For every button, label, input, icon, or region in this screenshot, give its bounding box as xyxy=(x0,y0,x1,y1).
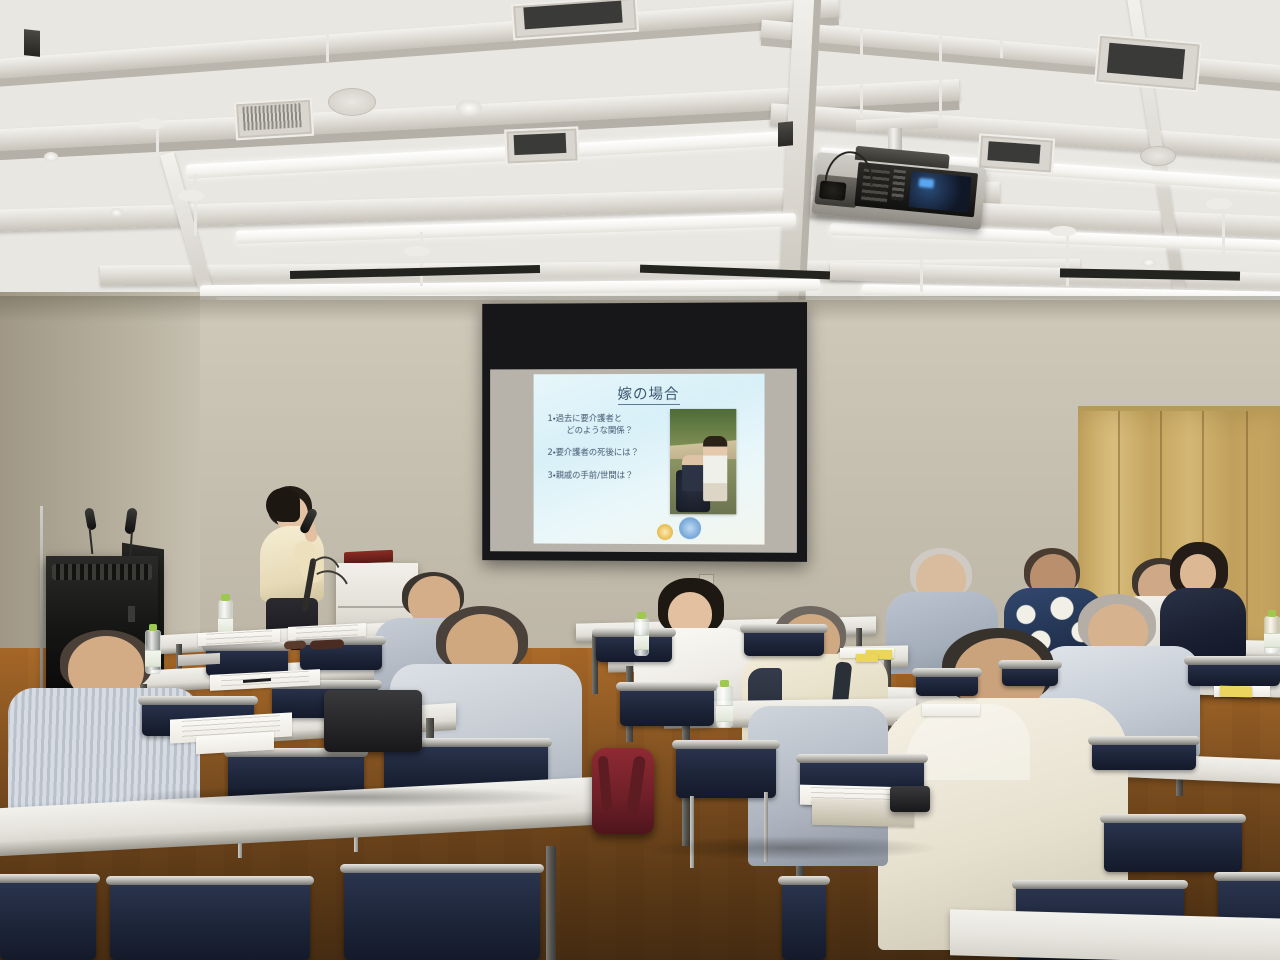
chair xyxy=(620,686,714,726)
slide-decor-dot-orange xyxy=(657,524,673,540)
chair xyxy=(916,672,978,696)
ceiling xyxy=(0,0,1280,316)
projector-indicator-light xyxy=(918,178,934,188)
head xyxy=(1180,554,1216,592)
table xyxy=(950,909,1280,960)
projection-screen: 嫁の場合 1・過去に要介護者と どのような関係？ 2・要介護者の死後には？ 3・… xyxy=(482,302,807,562)
wall-speaker xyxy=(24,29,40,57)
slide: 嫁の場合 1・過去に要介護者と どのような関係？ 2・要介護者の死後には？ 3・… xyxy=(534,374,765,545)
chair xyxy=(1002,664,1058,686)
chair xyxy=(1092,740,1196,770)
slide-photo xyxy=(670,409,736,514)
downlight xyxy=(110,208,123,217)
chair xyxy=(344,868,540,960)
water-bottle xyxy=(145,630,161,674)
wall-speaker xyxy=(778,121,793,147)
downlight xyxy=(44,152,58,162)
screen-surface: 嫁の場合 1・過去に要介護者と どのような関係？ 2・要介護者の死後には？ 3・… xyxy=(490,369,797,553)
projector-lens xyxy=(819,180,847,200)
water-bottle xyxy=(634,618,649,656)
slide-title: 嫁の場合 xyxy=(534,383,765,404)
chair xyxy=(0,878,96,960)
chair xyxy=(676,744,776,798)
slide-bullet-1: 1・過去に要介護者と どのような関係？ xyxy=(547,412,667,436)
chair xyxy=(1188,660,1280,686)
chair xyxy=(782,880,826,960)
eyeglass-case xyxy=(284,640,306,649)
slide-decor-dot-blue xyxy=(679,517,701,539)
chair xyxy=(110,880,310,960)
projector-mount-bracket xyxy=(860,22,942,118)
handout xyxy=(922,704,980,716)
downlight xyxy=(1142,258,1156,267)
downlight xyxy=(456,100,482,116)
eyeglass-case xyxy=(310,639,344,650)
seminar-room-photo: 嫁の場合 1・過去に要介護者と どのような関係？ 2・要介護者の死後には？ 3・… xyxy=(0,0,1280,960)
slide-bullet-2: 2・要介護者の死後には？ xyxy=(547,446,667,458)
water-bottle xyxy=(716,686,733,728)
yellow-handout xyxy=(856,654,878,662)
shoulder-bag xyxy=(324,690,422,752)
slide-bullets: 1・過去に要介護者と どのような関係？ 2・要介護者の死後には？ 3・親戚の手前… xyxy=(547,412,667,491)
water-bottle xyxy=(1264,616,1280,654)
ceiling-speaker xyxy=(328,88,376,116)
tablet-device xyxy=(178,653,220,666)
slide-bullet-3: 3・親戚の手前/世間は？ xyxy=(547,468,667,480)
shoulder-bag xyxy=(890,786,930,812)
yellow-handout xyxy=(1220,686,1252,698)
chair xyxy=(1104,818,1242,872)
ceiling-speaker xyxy=(1140,146,1176,166)
chair xyxy=(744,628,824,656)
